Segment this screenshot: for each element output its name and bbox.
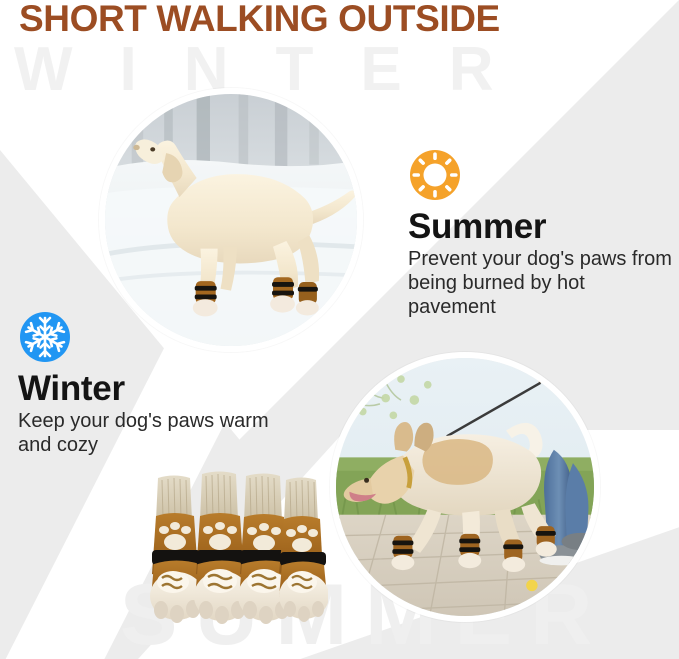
dog-socks-illustration: [148, 468, 328, 640]
feature-summer-heading: Summer: [408, 208, 674, 245]
feature-summer-body: Prevent your dog's paws from being burne…: [408, 247, 674, 320]
snowflake-icon: [18, 310, 72, 364]
summer-photo: [330, 352, 600, 622]
summer-photo-illustration: [336, 358, 594, 616]
winter-photo-illustration: [105, 94, 357, 346]
infographic-root: WINTER SUMMER SHORT WALKING OUTSIDE: [0, 0, 679, 659]
feature-winter-body: Keep your dog's paws warm and cozy: [18, 409, 284, 457]
sock-item: [279, 478, 328, 623]
sun-icon: [408, 148, 462, 202]
page-title: SHORT WALKING OUTSIDE: [19, 0, 500, 40]
feature-winter-heading: Winter: [18, 370, 284, 407]
feature-summer: Summer Prevent your dog's paws from bein…: [408, 148, 674, 320]
feature-winter: Winter Keep your dog's paws warm and coz…: [18, 310, 284, 457]
product-dog-socks: [148, 468, 328, 640]
